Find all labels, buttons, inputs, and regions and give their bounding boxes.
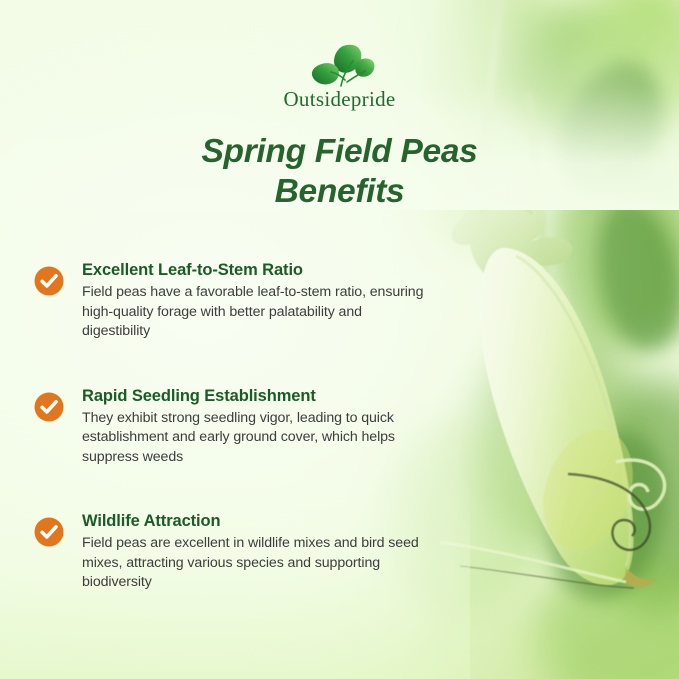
benefit-title: Rapid Seedling Establishment — [82, 386, 424, 406]
leaf-sprig-icon — [303, 40, 377, 90]
infographic-card: Outsidepride Spring Field Peas Benefits … — [0, 0, 679, 679]
page-title: Spring Field Peas Benefits — [0, 132, 679, 212]
check-circle-icon — [34, 392, 64, 422]
benefit-body: Field peas have a favorable leaf-to-stem… — [82, 283, 424, 342]
benefit-title: Wildlife Attraction — [82, 511, 424, 531]
brand-logo: Outsidepride — [0, 40, 679, 112]
benefit-title: Excellent Leaf-to-Stem Ratio — [82, 260, 424, 280]
brand-wordmark: Outsidepride — [283, 87, 395, 112]
benefit-body: They exhibit strong seedling vigor, lead… — [82, 409, 424, 468]
benefit-body: Field peas are excellent in wildlife mix… — [82, 534, 424, 593]
benefit-item: Rapid Seedling Establishment They exhibi… — [34, 386, 424, 468]
check-circle-icon — [34, 266, 64, 296]
content-layer: Outsidepride Spring Field Peas Benefits … — [0, 0, 679, 679]
title-line-2: Benefits — [0, 172, 679, 212]
benefit-item: Wildlife Attraction Field peas are excel… — [34, 511, 424, 593]
title-line-1: Spring Field Peas — [0, 132, 679, 172]
check-circle-icon — [34, 517, 64, 547]
benefit-item: Excellent Leaf-to-Stem Ratio Field peas … — [34, 260, 424, 342]
benefits-list: Excellent Leaf-to-Stem Ratio Field peas … — [34, 260, 424, 593]
